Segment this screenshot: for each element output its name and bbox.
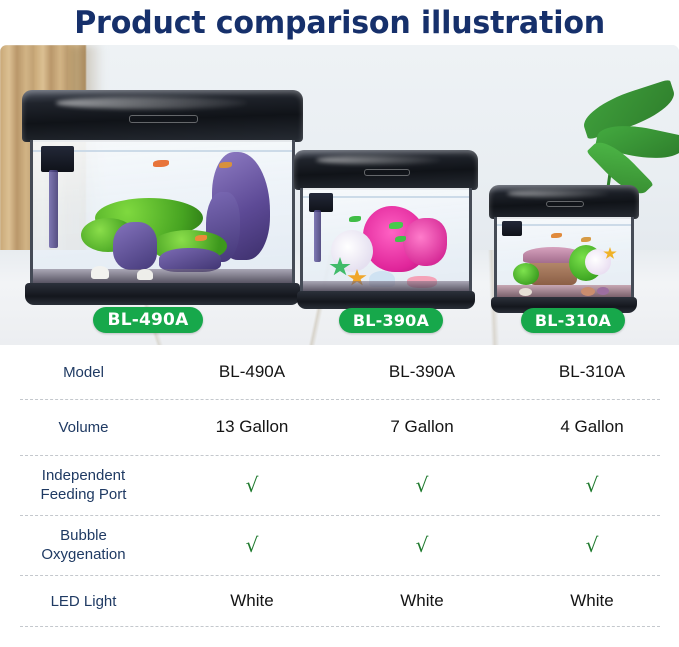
cell-model-bl-390a: BL-390A [337,362,507,382]
hood-vent-slot [546,201,584,207]
hood-gloss [316,156,441,165]
shell-decoration [91,266,109,279]
fish [389,222,403,229]
cell-volume-bl-310a: 4 Gallon [507,417,677,437]
table-row: Independent Feeding Port √ √ √ [0,455,679,515]
model-badge-bl-310a: BL-310A [521,308,625,333]
table-row: LED Light White White White [0,575,679,627]
fish [349,216,361,222]
internal-filter [309,193,333,212]
tank-base [297,291,476,309]
fish [195,235,207,241]
aquarium-bl-490a [30,90,295,305]
shell-decoration [137,269,153,280]
tank-glass [300,188,472,293]
pebble-decoration [519,288,532,296]
table-row: Bubble Oxygenation √ √ √ [0,515,679,575]
row-label-independent-feeding-port: Independent Feeding Port [0,466,167,504]
tank-hood [22,90,303,142]
hood-vent-slot [129,115,198,123]
rock-decoration [113,222,157,270]
cell-led-light-bl-390a: White [337,591,507,611]
tank-hood [294,150,478,190]
internal-filter [41,146,74,172]
row-label-model: Model [0,363,167,382]
model-badge-bl-390a: BL-390A [339,308,443,333]
aquarium-bl-310a [494,185,634,313]
tank-hood [489,185,639,219]
tank-glass [494,217,634,299]
title-bar: Product comparison illustration [0,0,679,45]
pebble-decoration [581,287,595,296]
row-label-bubble-oxygenation: Bubble Oxygenation [0,526,167,564]
hood-gloss [507,190,609,197]
cell-bubble-oxygenation-bl-490a: √ [167,533,337,557]
page-title: Product comparison illustration [74,5,605,41]
pebble-decoration [597,287,609,295]
table-row: Model BL-490A BL-390A BL-310A [0,345,679,399]
cell-feeding-port-bl-310a: √ [507,473,677,497]
tank-glass [30,140,295,285]
cell-model-bl-310a: BL-310A [507,362,677,382]
row-label-led-light: LED Light [0,592,167,611]
coral-decoration [403,218,447,266]
row-label-line-2: Feeding Port [6,485,161,504]
fish [153,160,169,167]
cell-volume-bl-390a: 7 Gallon [337,417,507,437]
cell-bubble-oxygenation-bl-390a: √ [337,533,507,557]
row-label-line-1: Bubble [6,526,161,545]
fish [395,236,406,242]
hood-gloss [56,97,247,108]
cell-bubble-oxygenation-bl-310a: √ [507,533,677,557]
cell-feeding-port-bl-390a: √ [337,473,507,497]
row-label-line-2: Oxygenation [6,545,161,564]
cell-model-bl-490a: BL-490A [167,362,337,382]
row-label-volume: Volume [0,418,167,437]
fish [551,233,562,238]
plant-decoration [513,263,539,285]
fish [219,162,232,168]
cell-led-light-bl-490a: White [167,591,337,611]
filter-tube [49,170,58,248]
cell-led-light-bl-310a: White [507,591,677,611]
cell-feeding-port-bl-490a: √ [167,473,337,497]
aquarium-bl-390a [300,150,472,310]
model-badge-bl-490a: BL-490A [93,307,203,333]
product-photo: BL-490A BL-390A BL-310A [0,45,679,345]
fish [581,237,591,242]
hood-vent-slot [364,169,410,176]
filter-tube [314,210,321,262]
cell-volume-bl-490a: 13 Gallon [167,417,337,437]
tank-base [25,283,301,305]
table-row: Volume 13 Gallon 7 Gallon 4 Gallon [0,399,679,455]
internal-filter [502,221,522,236]
comparison-table: Model BL-490A BL-390A BL-310A Volume 13 … [0,345,679,627]
row-label-line-1: Independent [6,466,161,485]
